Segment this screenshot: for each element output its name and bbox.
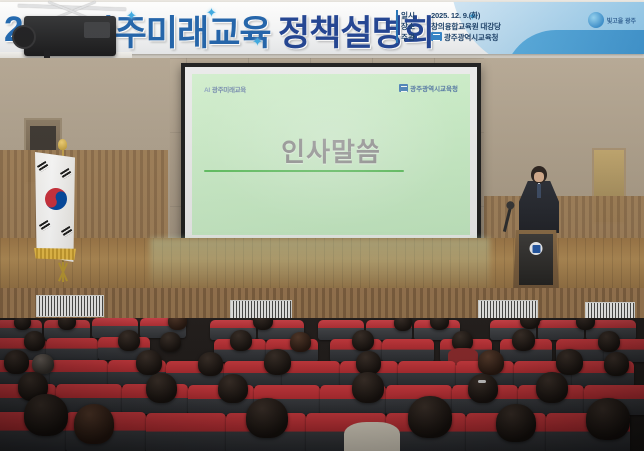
banner-info-org: 광주광역시교육청 [444,33,498,42]
banner-info-value: 창의융합교육원 대강당 [431,21,501,32]
audience-head [14,318,31,330]
banner-info-value: 광주광역시교육청 [431,32,498,43]
audience-head [556,349,583,375]
audience-head [352,372,384,403]
audience-head [512,329,535,351]
audience-head [146,373,177,403]
flag-stand [44,262,84,280]
audience-head [136,350,162,375]
speaker-face [534,172,544,182]
banner-info-row: 장소 창의융합교육원 대강당 [396,21,556,32]
logo-swirl-icon [588,12,604,28]
audience-head [536,372,568,403]
sparkle-icon: ✦ [206,5,217,21]
audience-head [576,318,595,330]
seat [146,413,226,451]
seat [398,361,456,387]
audience-head [58,318,76,330]
audience-head [24,394,68,436]
projection-screen-frame: AI광주미래교육 광주광역시교육청 인사말씀 [181,63,481,246]
wall-vent [36,295,104,317]
audience-head [598,331,620,352]
audience-head [604,352,629,376]
audience-head [478,350,504,375]
banner-info-value: 2025. 12. 9.(화) [431,10,480,21]
sparkle-icon: ✦ [126,8,137,24]
slide-title: 인사말씀 [192,132,470,169]
audience-head [520,318,540,329]
slide-header-ai-prefix: AI [204,87,210,94]
audience-head [118,330,140,351]
seat [50,360,108,386]
sparkle-icon: ✦ [252,34,263,50]
audience-shoulder [344,422,400,451]
banner-logo-text: 빛고을 광주 [607,16,636,25]
audience-head [168,318,187,330]
seat [46,338,98,361]
audience-head [4,350,29,374]
audience-head [160,332,181,352]
audience-head [408,396,452,438]
podium-front-panel [519,234,553,285]
audience-head [290,332,311,352]
audience-head [32,354,54,374]
education-office-mark-icon [431,32,442,41]
slide-title-underline [204,170,404,172]
speaker-tie [537,184,541,198]
audience-head [264,349,291,375]
education-office-mark-icon [399,84,408,92]
banner-info-key: 장소 [396,21,427,32]
seat [382,339,434,362]
audience-head [246,398,288,438]
slide-header-left: AI광주미래교육 [204,84,246,94]
slide-header-right-text: 광주광역시교육청 [410,83,458,93]
audience-head [218,374,248,403]
podium-emblem-icon [530,242,543,255]
audience-head [74,404,114,444]
flag-finial-icon [58,139,67,150]
audience-head [394,318,412,331]
projection-screen: AI광주미래교육 광주광역시교육청 인사말씀 [192,74,470,235]
banner-logo: 빛고을 광주 [562,8,636,32]
video-camera-icon [24,16,116,56]
banner-info-row: 주관 광주광역시교육청 [396,32,556,43]
audience-head [198,352,223,376]
audience-head [430,318,449,330]
hair-clip [478,380,486,383]
audience-head [24,331,45,351]
banner-info-key: 주관 [396,32,427,43]
auditorium-photo: 2026 광주미래교육 정책설명회 ✦ ✦ ✦ ✦ 일시 2025. 12. 9… [0,0,644,451]
audience-head [496,404,536,442]
audience-seating [0,318,644,451]
slide-header-left-text: 광주미래교육 [212,87,246,94]
audience-head [352,330,374,351]
projection-screen-border: AI광주미래교육 광주광역시교육청 인사말씀 [185,67,477,242]
banner-info-row: 일시 2025. 12. 9.(화) [396,10,556,21]
audience-head [586,398,630,440]
banner-info-key: 일시 [396,10,427,21]
flag-fringe [34,248,76,260]
podium [513,230,559,292]
audience-head [230,330,252,351]
banner-info-block: 일시 2025. 12. 9.(화) 장소 창의융합교육원 대강당 주관 광주광… [396,10,556,43]
audience-head [468,374,498,403]
slide-header-right: 광주광역시교육청 [399,83,458,93]
